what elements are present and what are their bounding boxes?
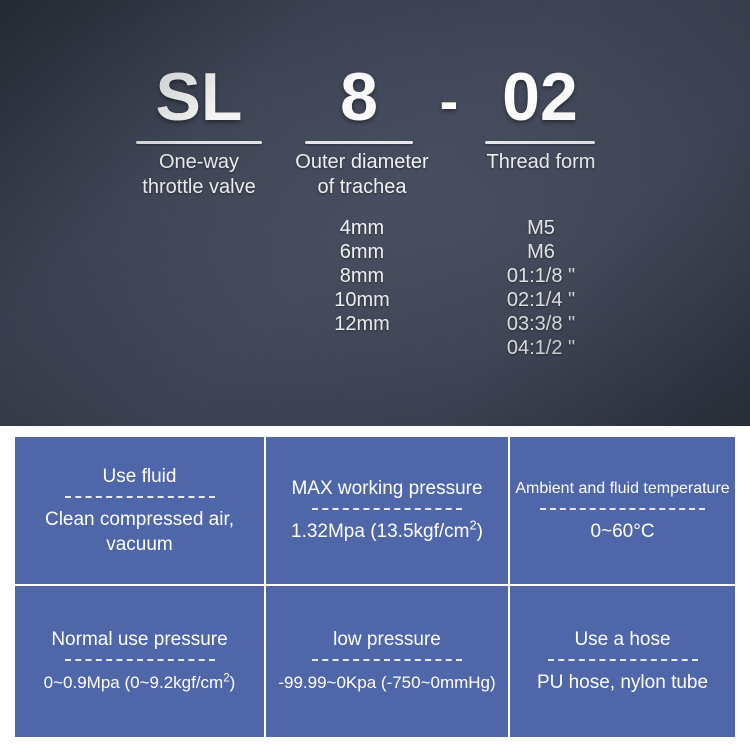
spec-title: low pressure: [333, 628, 441, 652]
spec-cell-normal-use-pressure: Normal use pressure 0~0.9Mpa (0~9.2kgf/c…: [15, 586, 266, 737]
thread-form-option: 03:3/8 ": [466, 312, 616, 336]
dashed-separator: [312, 659, 462, 661]
product-spec-graphic: SL 8 - 02 One-way throttle valve Outer d…: [0, 0, 750, 750]
model-code-outer-diameter: 8: [300, 54, 418, 140]
spec-cell-low-pressure: low pressure -99.99~0Kpa (-750~0mmHg): [266, 586, 510, 737]
spec-title: Use fluid: [103, 465, 177, 489]
spec-cell-use-a-hose: Use a hose PU hose, nylon tube: [510, 586, 735, 737]
outer-diameter-option: 4mm: [282, 216, 442, 240]
model-code-panel: SL 8 - 02 One-way throttle valve Outer d…: [0, 0, 750, 426]
spec-title: Use a hose: [574, 628, 670, 652]
underline-thread-form: [485, 141, 595, 144]
thread-form-option: 04:1/2 ": [466, 336, 616, 360]
dashed-separator: [548, 659, 698, 661]
spec-value: PU hose, nylon tube: [537, 670, 708, 695]
outer-diameter-option: 6mm: [282, 240, 442, 264]
spec-title: Normal use pressure: [51, 628, 227, 652]
model-code-series: SL: [126, 54, 272, 140]
underline-outer-diameter: [305, 141, 413, 144]
model-code-row: SL 8 - 02: [0, 54, 750, 146]
outer-diameter-option: 8mm: [282, 264, 442, 288]
dashed-separator: [312, 508, 462, 510]
thread-form-option-list: M5 M6 01:1/8 " 02:1/4 " 03:3/8 " 04:1/2 …: [466, 216, 616, 360]
model-code-separator: -: [410, 58, 488, 144]
thread-form-option: 02:1/4 ": [466, 288, 616, 312]
outer-diameter-option-list: 4mm 6mm 8mm 10mm 12mm: [282, 216, 442, 336]
outer-diameter-option: 12mm: [282, 312, 442, 336]
underline-series: [136, 141, 262, 144]
thread-form-option: M5: [466, 216, 616, 240]
dashed-separator: [65, 496, 215, 498]
outer-diameter-option: 10mm: [282, 288, 442, 312]
spec-title: MAX working pressure: [291, 477, 482, 501]
model-code-thread-form: 02: [480, 54, 600, 140]
dashed-separator: [540, 508, 705, 510]
thread-form-option: M6: [466, 240, 616, 264]
spec-cell-use-fluid: Use fluid Clean compressed air, vacuum: [15, 437, 266, 586]
thread-form-option: 01:1/8 ": [466, 264, 616, 288]
specification-table: Use fluid Clean compressed air, vacuum M…: [15, 437, 735, 737]
dashed-separator: [65, 659, 215, 661]
spec-value: Clean compressed air, vacuum: [45, 507, 234, 557]
spec-value: 1.32Mpa (13.5kgf/cm2): [291, 519, 483, 544]
panel-divider: [0, 426, 750, 437]
spec-value: 0~0.9Mpa (0~9.2kgf/cm2): [44, 670, 236, 695]
caption-thread-form: Thread form: [470, 150, 612, 175]
spec-value: 0~60°C: [590, 519, 654, 544]
spec-cell-max-working-pressure: MAX working pressure 1.32Mpa (13.5kgf/cm…: [266, 437, 510, 586]
caption-series: One-way throttle valve: [106, 150, 292, 200]
spec-value: -99.99~0Kpa (-750~0mmHg): [278, 670, 495, 695]
caption-outer-diameter: Outer diameter of trachea: [274, 150, 450, 200]
spec-title: Ambient and fluid temperature: [515, 477, 729, 501]
spec-cell-ambient-fluid-temperature: Ambient and fluid temperature 0~60°C: [510, 437, 735, 586]
